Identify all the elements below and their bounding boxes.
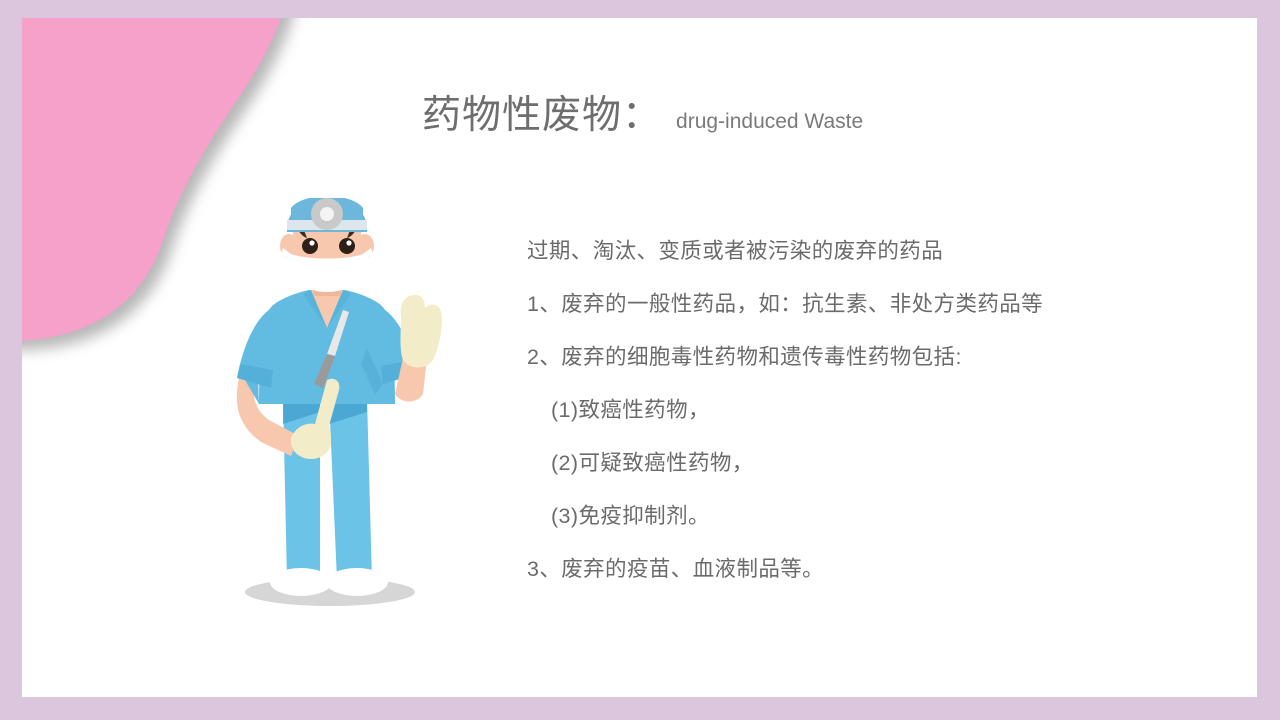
slide-canvas: 药物性废物： drug-induced Waste 过期、淘汰、变质或者被污染的… [0, 0, 1280, 720]
body-line: 3、废弃的疫苗、血液制品等。 [527, 543, 1187, 596]
body-line: (2)可疑致癌性药物， [527, 437, 1187, 490]
slide-white-card: 药物性废物： drug-induced Waste 过期、淘汰、变质或者被污染的… [22, 18, 1257, 697]
body-line: (1)致癌性药物， [527, 384, 1187, 437]
page-title: 药物性废物： drug-induced Waste [422, 92, 863, 140]
page-title-chinese: 药物性废物： [422, 92, 662, 140]
body-line: 过期、淘汰、变质或者被污染的废弃的药品 [527, 225, 1187, 278]
body-line: (3)免疫抑制剂。 [527, 490, 1187, 543]
body-line: 1、废弃的一般性药品，如：抗生素、非处方类药品等 [527, 278, 1187, 331]
body-line: 2、废弃的细胞毒性药物和遗传毒性药物包括: [527, 331, 1187, 384]
surgeon-doctor-illustration [217, 198, 467, 608]
surgeon-figure-icon [217, 198, 467, 608]
body-text-block: 过期、淘汰、变质或者被污染的废弃的药品1、废弃的一般性药品，如：抗生素、非处方类… [527, 225, 1187, 596]
page-title-english: drug-induced Waste [676, 108, 863, 136]
